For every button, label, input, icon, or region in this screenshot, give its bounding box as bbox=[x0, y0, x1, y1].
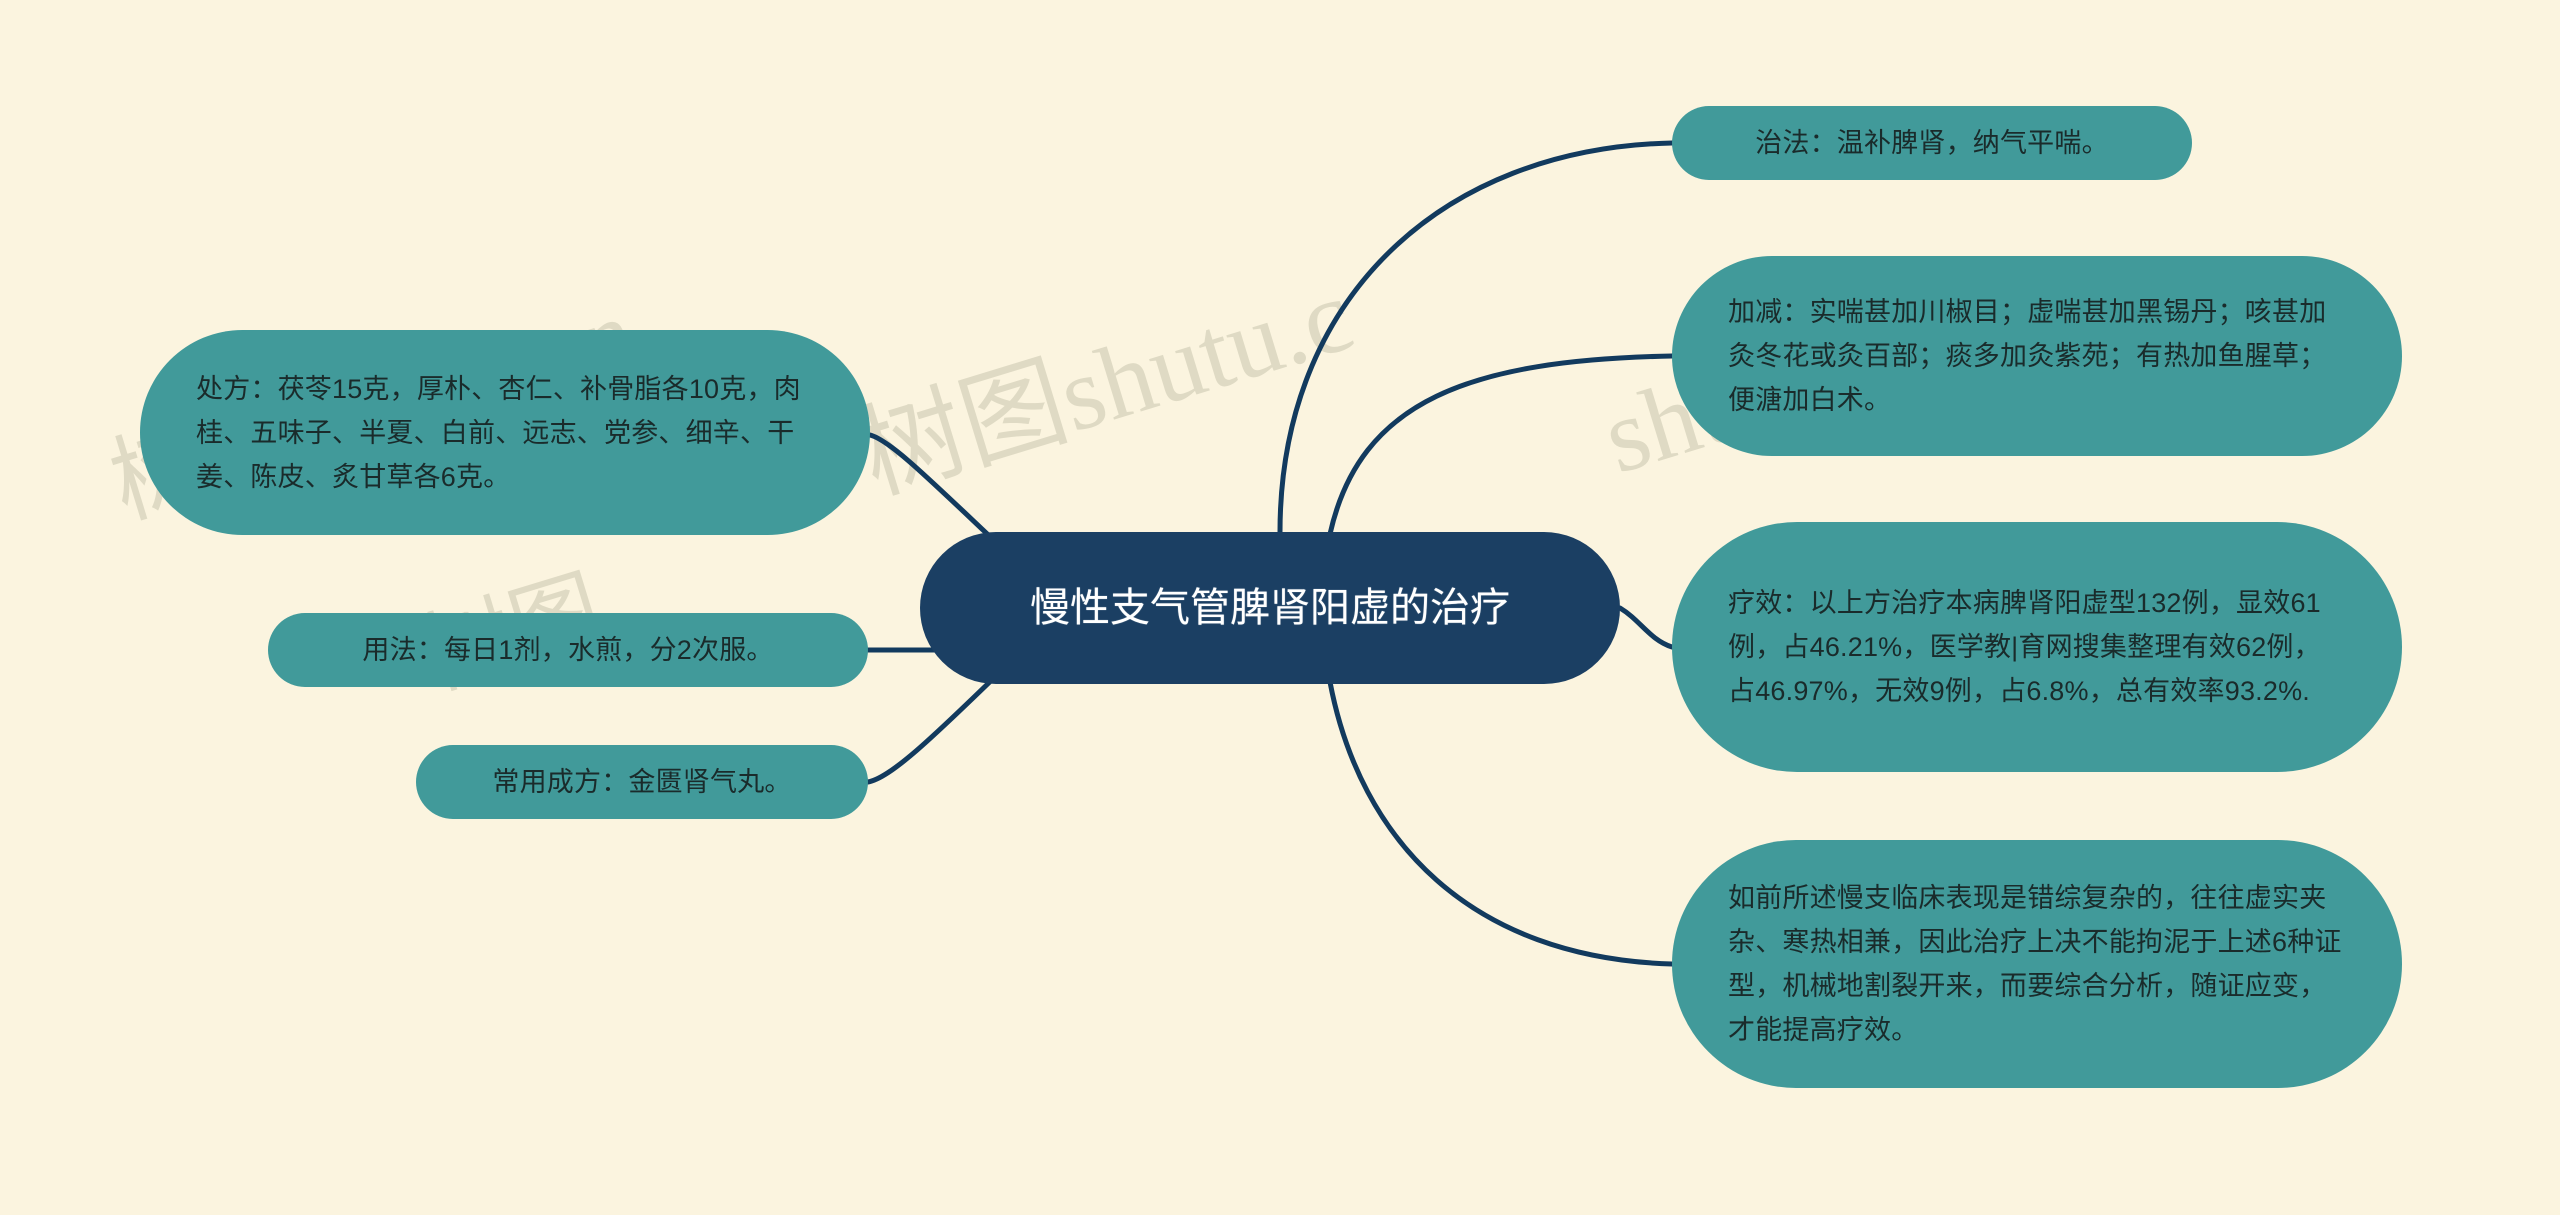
link-center-summary bbox=[1330, 682, 1672, 964]
branch-node-modification-label: 加减：实喘甚加川椒目；虚喘甚加黑锡丹；咳甚加灸冬花或灸百部；痰多加灸紫苑；有热加… bbox=[1728, 290, 2346, 422]
branch-node-usage[interactable]: 用法：每日1剂，水煎，分2次服。 bbox=[268, 613, 868, 687]
link-center-method bbox=[1280, 143, 1672, 532]
link-center-formula bbox=[868, 672, 1000, 782]
branch-node-modification[interactable]: 加减：实喘甚加川椒目；虚喘甚加黑锡丹；咳甚加灸冬花或灸百部；痰多加灸紫苑；有热加… bbox=[1672, 256, 2402, 456]
branch-node-prescription[interactable]: 处方：茯苓15克，厚朴、杏仁、补骨脂各10克，肉桂、五味子、半夏、白前、远志、党… bbox=[140, 330, 870, 535]
mindmap-canvas: 树图 shutu.cn 树图shutu.c shutu.cn 树图 慢性支气管脾… bbox=[0, 0, 2560, 1215]
branch-node-formula[interactable]: 常用成方：金匮肾气丸。 bbox=[416, 745, 868, 819]
branch-node-summary-label: 如前所述慢支临床表现是错综复杂的，往往虚实夹杂、寒热相兼，因此治疗上决不能拘泥于… bbox=[1728, 876, 2346, 1052]
watermark-center: 树图shutu.c bbox=[839, 229, 1367, 521]
branch-node-method-label: 治法：温补脾肾，纳气平喘。 bbox=[1716, 121, 2148, 165]
branch-node-prescription-label: 处方：茯苓15克，厚朴、杏仁、补骨脂各10克，肉桂、五味子、半夏、白前、远志、党… bbox=[196, 367, 814, 499]
link-center-modification bbox=[1330, 356, 1672, 534]
link-center-prescription bbox=[870, 435, 1000, 546]
link-center-effect bbox=[1620, 608, 1672, 647]
branch-node-method[interactable]: 治法：温补脾肾，纳气平喘。 bbox=[1672, 106, 2192, 180]
center-node[interactable]: 慢性支气管脾肾阳虚的治疗 bbox=[920, 532, 1620, 684]
center-node-label: 慢性支气管脾肾阳虚的治疗 bbox=[960, 580, 1580, 636]
branch-node-effect[interactable]: 疗效：以上方治疗本病脾肾阳虚型132例，显效61例，占46.21%，医学教|育网… bbox=[1672, 522, 2402, 772]
branch-node-formula-label: 常用成方：金匮肾气丸。 bbox=[456, 760, 828, 804]
branch-node-summary[interactable]: 如前所述慢支临床表现是错综复杂的，往往虚实夹杂、寒热相兼，因此治疗上决不能拘泥于… bbox=[1672, 840, 2402, 1088]
branch-node-effect-label: 疗效：以上方治疗本病脾肾阳虚型132例，显效61例，占46.21%，医学教|育网… bbox=[1728, 581, 2346, 713]
branch-node-usage-label: 用法：每日1剂，水煎，分2次服。 bbox=[312, 628, 824, 672]
